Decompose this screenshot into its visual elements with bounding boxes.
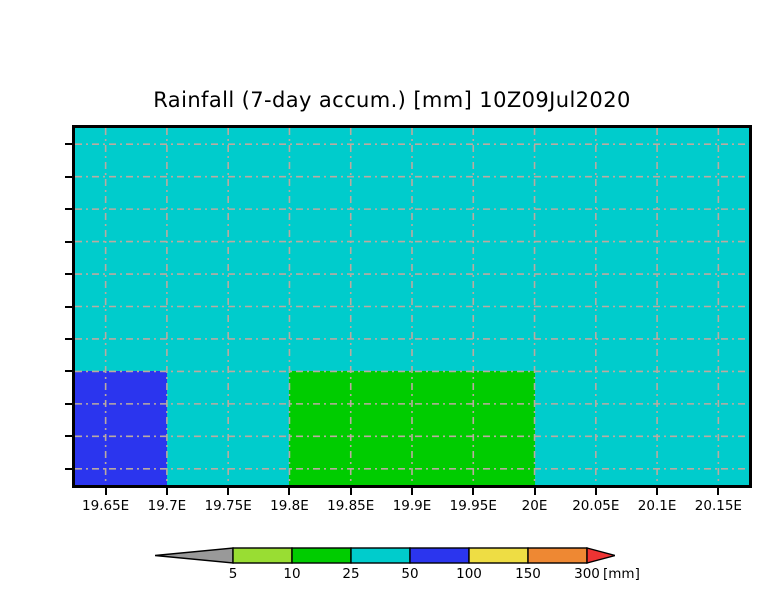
x-axis-tick [595, 488, 597, 495]
y-axis-tick [65, 435, 72, 437]
x-axis-tick [717, 488, 719, 495]
x-axis-tick [411, 488, 413, 495]
x-axis-label: 19.95E [450, 498, 497, 514]
x-axis-tick [534, 488, 536, 495]
y-axis-tick [65, 306, 72, 308]
gridlines [75, 128, 749, 485]
x-axis-label: 19.85E [327, 498, 374, 514]
x-axis-tick [166, 488, 168, 495]
x-axis-tick [350, 488, 352, 495]
page-title: Rainfall (7-day accum.) [mm] 10Z09Jul202… [0, 88, 784, 112]
colorbar-tick-label: 300 [574, 566, 600, 582]
x-axis-tick [227, 488, 229, 495]
colorbar-tick-label: 25 [342, 566, 359, 582]
y-axis-tick [65, 403, 72, 405]
y-axis-tick [65, 468, 72, 470]
rainfall-chart-figure: Rainfall (7-day accum.) [mm] 10Z09Jul202… [0, 0, 784, 612]
y-axis-tick [65, 143, 72, 145]
y-axis-tick [65, 176, 72, 178]
colorbar-tick-label: 5 [229, 566, 238, 582]
x-axis-label: 20.15E [695, 498, 742, 514]
y-axis-tick [65, 338, 72, 340]
x-axis-tick [472, 488, 474, 495]
y-axis-tick [65, 208, 72, 210]
x-axis-tick [656, 488, 658, 495]
colorbar-tick-label: 10 [283, 566, 300, 582]
x-axis-label: 19.65E [82, 498, 129, 514]
x-axis-label: 19.7E [148, 498, 187, 514]
x-axis-tick [105, 488, 107, 495]
colorbar-tick-label: 150 [515, 566, 541, 582]
plot-area: 1.24N1.22N1.2N1.18N1.16N1.14N1.12N1.1N1.… [72, 125, 752, 488]
y-axis-tick [65, 273, 72, 275]
x-axis-label: 20.05E [572, 498, 619, 514]
x-axis-tick [288, 488, 290, 495]
x-axis-label: 19.8E [270, 498, 309, 514]
colorbar-swatches [155, 546, 615, 566]
colorbar-units-label: [mm] [603, 566, 640, 582]
x-axis-label: 20.1E [638, 498, 677, 514]
x-axis-label: 19.75E [205, 498, 252, 514]
colorbar-tick-label: 50 [401, 566, 418, 582]
x-axis-label: 19.9E [393, 498, 432, 514]
colorbar-legend: [mm] 5102550100150300 [155, 546, 615, 586]
x-axis-label: 20E [522, 498, 548, 514]
plot-canvas [75, 128, 749, 485]
colorbar-tick-label: 100 [456, 566, 482, 582]
y-axis-tick [65, 241, 72, 243]
y-axis-tick [65, 370, 72, 372]
